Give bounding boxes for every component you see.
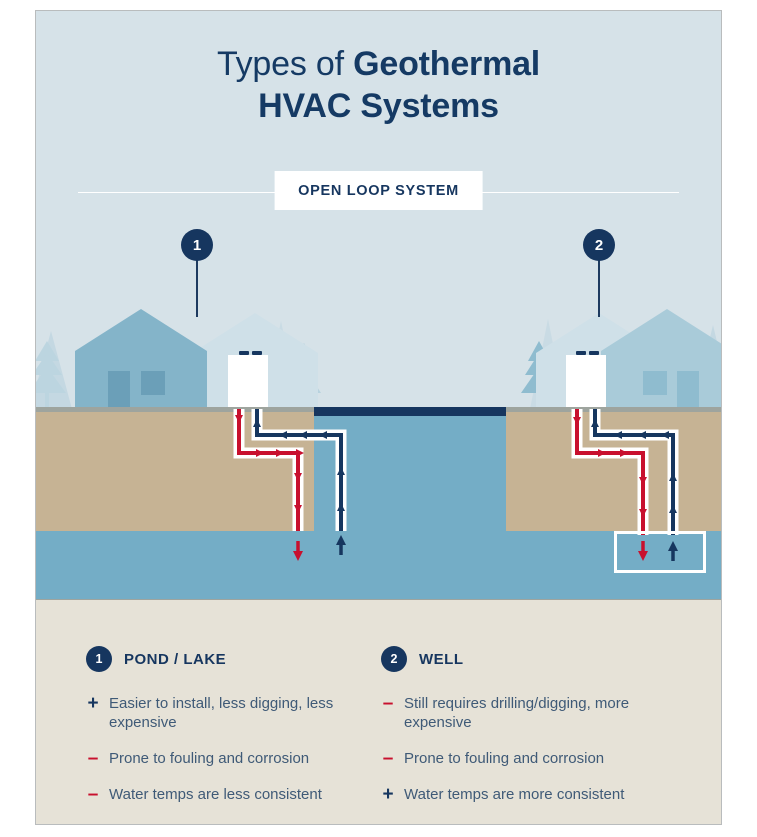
- legend-bullet: – Water temps are less consistent: [86, 785, 386, 804]
- legend-bullet: – Prone to fouling and corrosion: [86, 749, 386, 768]
- well-flow-arrows: [614, 531, 706, 573]
- bullet-text: Water temps are less consistent: [109, 785, 322, 804]
- legend-header-2: 2 WELL: [381, 646, 681, 672]
- legend-column-well: 2 WELL – Still requires drilling/digging…: [381, 646, 681, 821]
- title-line-2: HVAC Systems: [36, 85, 721, 127]
- bullet-text: Prone to fouling and corrosion: [109, 749, 309, 768]
- bullet-sign-plus-icon: +: [381, 785, 395, 804]
- bullet-sign-minus-icon: –: [86, 749, 100, 768]
- legend-bullet: – Still requires drilling/digging, more …: [381, 694, 681, 732]
- bullet-text: Prone to fouling and corrosion: [404, 749, 604, 768]
- bullet-text: Still requires drilling/digging, more ex…: [404, 694, 681, 732]
- legend-bullet: – Prone to fouling and corrosion: [381, 749, 681, 768]
- bullet-sign-minus-icon: –: [86, 785, 100, 804]
- diagram-scene: 1: [36, 213, 722, 599]
- section-banner: OPEN LOOP SYSTEM: [36, 171, 721, 213]
- legend-badge-1: 1: [86, 646, 112, 672]
- legend-title-1: POND / LAKE: [124, 651, 226, 668]
- bullet-text: Water temps are more consistent: [404, 785, 624, 804]
- legend-column-pond-lake: 1 POND / LAKE + Easier to install, less …: [86, 646, 386, 821]
- title-line-1: Types of Geothermal: [36, 43, 721, 85]
- legend-header-1: 1 POND / LAKE: [86, 646, 386, 672]
- bullet-text: Easier to install, less digging, less ex…: [109, 694, 386, 732]
- bullet-sign-minus-icon: –: [381, 694, 395, 732]
- infographic-card: Types of Geothermal HVAC Systems OPEN LO…: [35, 10, 722, 825]
- legend-bullet: + Easier to install, less digging, less …: [86, 694, 386, 732]
- page-title: Types of Geothermal HVAC Systems: [36, 43, 721, 127]
- legend-footer: 1 POND / LAKE + Easier to install, less …: [36, 599, 722, 825]
- legend-badge-2: 2: [381, 646, 407, 672]
- title-bold-text: Geothermal: [353, 45, 540, 83]
- legend-title-2: WELL: [419, 651, 464, 668]
- legend-bullet: + Water temps are more consistent: [381, 785, 681, 804]
- bullet-sign-minus-icon: –: [381, 749, 395, 768]
- bullet-sign-plus-icon: +: [86, 694, 100, 732]
- section-banner-label: OPEN LOOP SYSTEM: [274, 171, 483, 210]
- title-thin-text: Types of: [217, 45, 353, 83]
